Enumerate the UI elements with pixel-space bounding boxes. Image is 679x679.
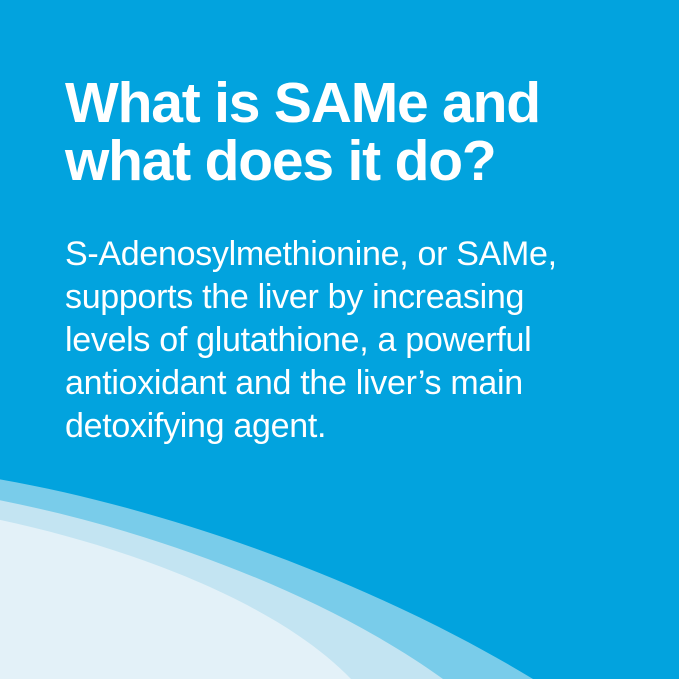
headline-line-1: What is SAMe and <box>65 74 585 132</box>
band-palest-blue-shape <box>0 512 351 679</box>
headline-line-2: what does it do? <box>65 132 585 190</box>
body-paragraph: S-Adenosylmethionine, or SAMe, supports … <box>65 190 625 448</box>
body-line-3: levels of glutathione, a powerful <box>65 319 625 362</box>
body-line-1: S-Adenosylmethionine, or SAMe, <box>65 233 625 276</box>
page-title: What is SAMe and what does it do? <box>65 0 585 190</box>
body-line-2: supports the liver by increasing <box>65 276 625 319</box>
body-line-4: antioxidant and the liver’s main <box>65 362 625 405</box>
band-medium-blue-shape <box>0 473 533 679</box>
body-line-5: detoxifying agent. <box>65 405 625 448</box>
card-content: What is SAMe and what does it do? S-Aden… <box>65 0 645 448</box>
band-pale-blue-shape <box>0 493 443 679</box>
info-card: What is SAMe and what does it do? S-Aden… <box>0 0 679 679</box>
